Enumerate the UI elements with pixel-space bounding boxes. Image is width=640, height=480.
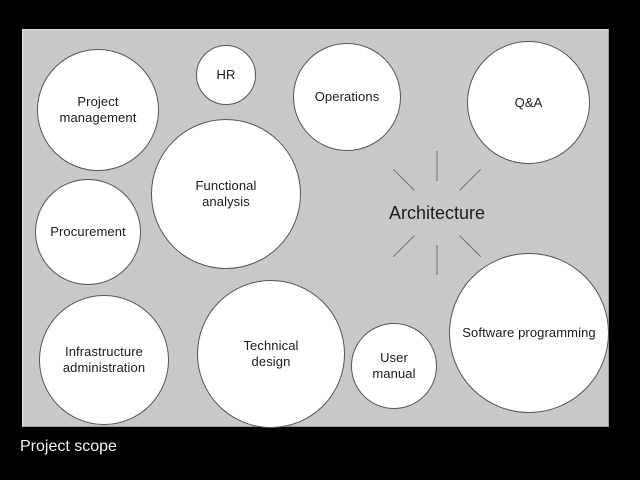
bubble-label: Procurement bbox=[46, 224, 130, 240]
bubble-label: Functional analysis bbox=[192, 178, 261, 210]
bubble-node[interactable]: HR bbox=[196, 45, 256, 105]
bubble-node[interactable]: Operations bbox=[293, 43, 401, 151]
diagram-canvas: Project managementHROperationsQ&AFunctio… bbox=[0, 0, 640, 480]
bubble-node[interactable]: Procurement bbox=[35, 179, 141, 285]
bubble-label: Project management bbox=[56, 94, 141, 126]
bubble-label: Software programming bbox=[458, 325, 600, 341]
bubble-label: Q&A bbox=[511, 95, 547, 111]
bubble-label: User manual bbox=[368, 350, 419, 382]
bubble-node[interactable]: Project management bbox=[37, 49, 159, 171]
architecture-label: Architecture bbox=[337, 203, 537, 223]
bubble-label: HR bbox=[213, 67, 240, 83]
bubble-label: Operations bbox=[311, 89, 384, 105]
bubble-label: Technical design bbox=[239, 338, 302, 370]
bubble-node[interactable]: Software programming bbox=[449, 253, 609, 413]
diagram-caption: Project scope bbox=[20, 438, 117, 456]
bubble-label: Infrastructure administration bbox=[59, 344, 149, 376]
bubble-node[interactable]: Q&A bbox=[467, 41, 590, 164]
bubble-node[interactable]: Infrastructure administration bbox=[39, 295, 169, 425]
bubble-node[interactable]: User manual bbox=[351, 323, 437, 409]
bubble-node[interactable]: Technical design bbox=[197, 280, 345, 428]
diagram-panel: Project managementHROperationsQ&AFunctio… bbox=[22, 29, 609, 427]
bubble-node[interactable]: Functional analysis bbox=[151, 119, 301, 269]
